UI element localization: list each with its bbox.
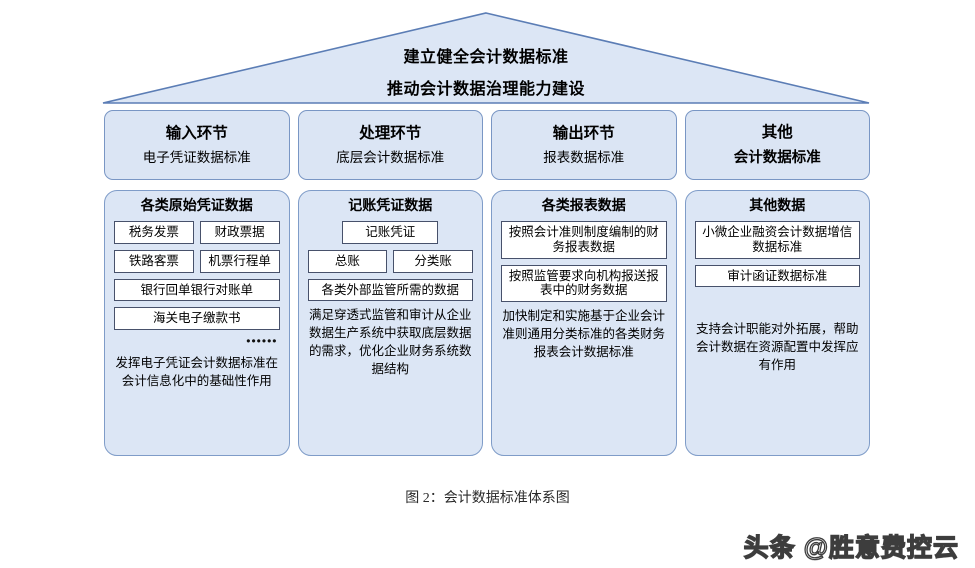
panel-reports[interactable]: 各类报表数据 按照会计准则制度编制的财务报表数据 按照监管要求向机构报送报表中的… — [491, 190, 677, 456]
chip-stack-other-data: 小微企业融资会计数据增信数据标准 审计函证数据标准 — [695, 221, 861, 287]
chip-row: 审计函证数据标准 — [695, 265, 861, 288]
stage-subtitle-output: 报表数据标准 — [543, 151, 624, 165]
roof-title-line-2: 推动会计数据治理能力建设 — [387, 82, 585, 98]
stage-subtitle-other: 会计数据标准 — [734, 151, 821, 166]
chip-fiscal-bill[interactable]: 财政票据 — [200, 221, 280, 244]
chip-row: 铁路客票 机票行程单 — [114, 250, 280, 273]
chip-sme-financing-credit-data-standard[interactable]: 小微企业融资会计数据增信数据标准 — [695, 221, 861, 259]
chip-standards-based-financial-report-data[interactable]: 按照会计准则制度编制的财务报表数据 — [501, 221, 667, 259]
stage-title-processing: 处理环节 — [359, 126, 421, 142]
panel-title-other-data: 其他数据 — [695, 198, 861, 212]
chip-stack-original-vouchers: 税务发票 财政票据 铁路客票 机票行程单 银行回单银行对账单 海关电子缴款书 — [114, 221, 280, 330]
stage-title-other: 其他 — [762, 125, 793, 141]
panel-note-reports: 加快制定和实施基于企业会计准则通用分类标准的各类财务报表会计数据标准 — [501, 308, 667, 361]
panel-spacer — [308, 378, 474, 447]
chip-stack-journal-vouchers: 记账凭证 总账 分类账 各类外部监管所需的数据 — [308, 221, 474, 301]
stage-title-output: 输出环节 — [553, 126, 615, 142]
roof-text-block: 建立健全会计数据标准 推动会计数据治理能力建设 — [100, 10, 872, 106]
stage-subtitle-processing: 底层会计数据标准 — [336, 151, 444, 165]
chip-journal-voucher[interactable]: 记账凭证 — [342, 221, 438, 244]
chip-row: 海关电子缴款书 — [114, 307, 280, 330]
chip-stack-reports: 按照会计准则制度编制的财务报表数据 按照监管要求向机构报送报表中的财务数据 — [501, 221, 667, 302]
figure-caption: 图 2：会计数据标准体系图 — [0, 487, 975, 507]
panel-original-vouchers[interactable]: 各类原始凭证数据 税务发票 财政票据 铁路客票 机票行程单 银行回单银行对账单 … — [104, 190, 290, 456]
chip-row: 各类外部监管所需的数据 — [308, 279, 474, 302]
stage-title-input: 输入环节 — [166, 126, 228, 142]
panel-title-journal-vouchers: 记账凭证数据 — [308, 198, 474, 212]
panel-spacer — [695, 375, 861, 448]
panel-spacer — [114, 391, 280, 448]
stage-box-output[interactable]: 输出环节 报表数据标准 — [491, 110, 677, 180]
watermark-text: 头条 @胜意费控云 — [744, 528, 959, 564]
chip-external-regulatory-data[interactable]: 各类外部监管所需的数据 — [308, 279, 474, 302]
stage-subtitle-input: 电子凭证数据标准 — [143, 151, 251, 165]
chip-tax-invoice[interactable]: 税务发票 — [114, 221, 194, 244]
chip-audit-confirmation-data-standard[interactable]: 审计函证数据标准 — [695, 265, 861, 288]
panel-title-reports: 各类报表数据 — [501, 198, 667, 212]
stage-box-other[interactable]: 其他 会计数据标准 — [685, 110, 871, 180]
ellipsis-dots: •••••• — [114, 335, 280, 347]
chip-row: 银行回单银行对账单 — [114, 279, 280, 302]
roof-triangle: 建立健全会计数据标准 推动会计数据治理能力建设 — [100, 10, 872, 106]
panel-journal-vouchers[interactable]: 记账凭证数据 记账凭证 总账 分类账 各类外部监管所需的数据 满足穿透式监管和审… — [298, 190, 484, 456]
chip-row: 小微企业融资会计数据增信数据标准 — [695, 221, 861, 259]
chip-air-itinerary[interactable]: 机票行程单 — [200, 250, 280, 273]
panel-other-data[interactable]: 其他数据 小微企业融资会计数据增信数据标准 审计函证数据标准 支持会计职能对外拓… — [685, 190, 871, 456]
stage-header-row: 输入环节 电子凭证数据标准 处理环节 底层会计数据标准 输出环节 报表数据标准 … — [104, 110, 870, 180]
panel-note-journal-vouchers: 满足穿透式监管和审计从企业数据生产系统中获取底层数据的需求，优化企业财务系统数据… — [308, 307, 474, 378]
chip-bank-receipt-statement[interactable]: 银行回单银行对账单 — [114, 279, 280, 302]
panel-spacer — [501, 361, 667, 447]
chip-row: 总账 分类账 — [308, 250, 474, 273]
chip-subsidiary-ledger[interactable]: 分类账 — [393, 250, 473, 273]
panel-note-original-vouchers: 发挥电子凭证会计数据标准在会计信息化中的基础性作用 — [114, 355, 280, 391]
stage-box-processing[interactable]: 处理环节 底层会计数据标准 — [298, 110, 484, 180]
category-panel-row: 各类原始凭证数据 税务发票 财政票据 铁路客票 机票行程单 银行回单银行对账单 … — [104, 190, 870, 456]
chip-row: 按照会计准则制度编制的财务报表数据 — [501, 221, 667, 259]
panel-title-original-vouchers: 各类原始凭证数据 — [114, 198, 280, 212]
chip-row: 税务发票 财政票据 — [114, 221, 280, 244]
roof-title-line-1: 建立健全会计数据标准 — [403, 50, 568, 66]
chip-railway-ticket[interactable]: 铁路客票 — [114, 250, 194, 273]
chip-customs-payment-slip[interactable]: 海关电子缴款书 — [114, 307, 280, 330]
panel-note-other-data: 支持会计职能对外拓展，帮助会计数据在资源配置中发挥应有作用 — [695, 321, 861, 374]
chip-general-ledger[interactable]: 总账 — [308, 250, 388, 273]
stage-box-input[interactable]: 输入环节 电子凭证数据标准 — [104, 110, 290, 180]
chip-row: 记账凭证 — [308, 221, 474, 244]
chip-regulatory-submitted-report-data[interactable]: 按照监管要求向机构报送报表中的财务数据 — [501, 265, 667, 303]
chip-row: 按照监管要求向机构报送报表中的财务数据 — [501, 265, 667, 303]
